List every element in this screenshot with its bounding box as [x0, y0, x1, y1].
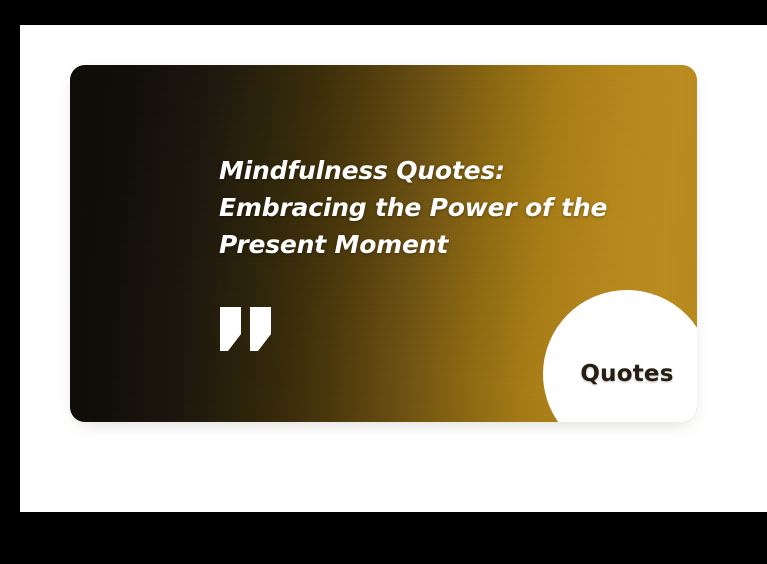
quote-banner-card[interactable]: Mindfulness Quotes: Embracing the Power … [70, 65, 697, 423]
page-canvas: Mindfulness Quotes: Embracing the Power … [20, 25, 767, 512]
quotation-mark-icon [220, 307, 274, 351]
card-title: Mindfulness Quotes: Embracing the Power … [219, 152, 639, 263]
outer-frame: Mindfulness Quotes: Embracing the Power … [0, 0, 767, 564]
quotes-badge-label-wrap: Quotes [543, 290, 711, 458]
quotes-badge-label: Quotes [580, 361, 673, 387]
